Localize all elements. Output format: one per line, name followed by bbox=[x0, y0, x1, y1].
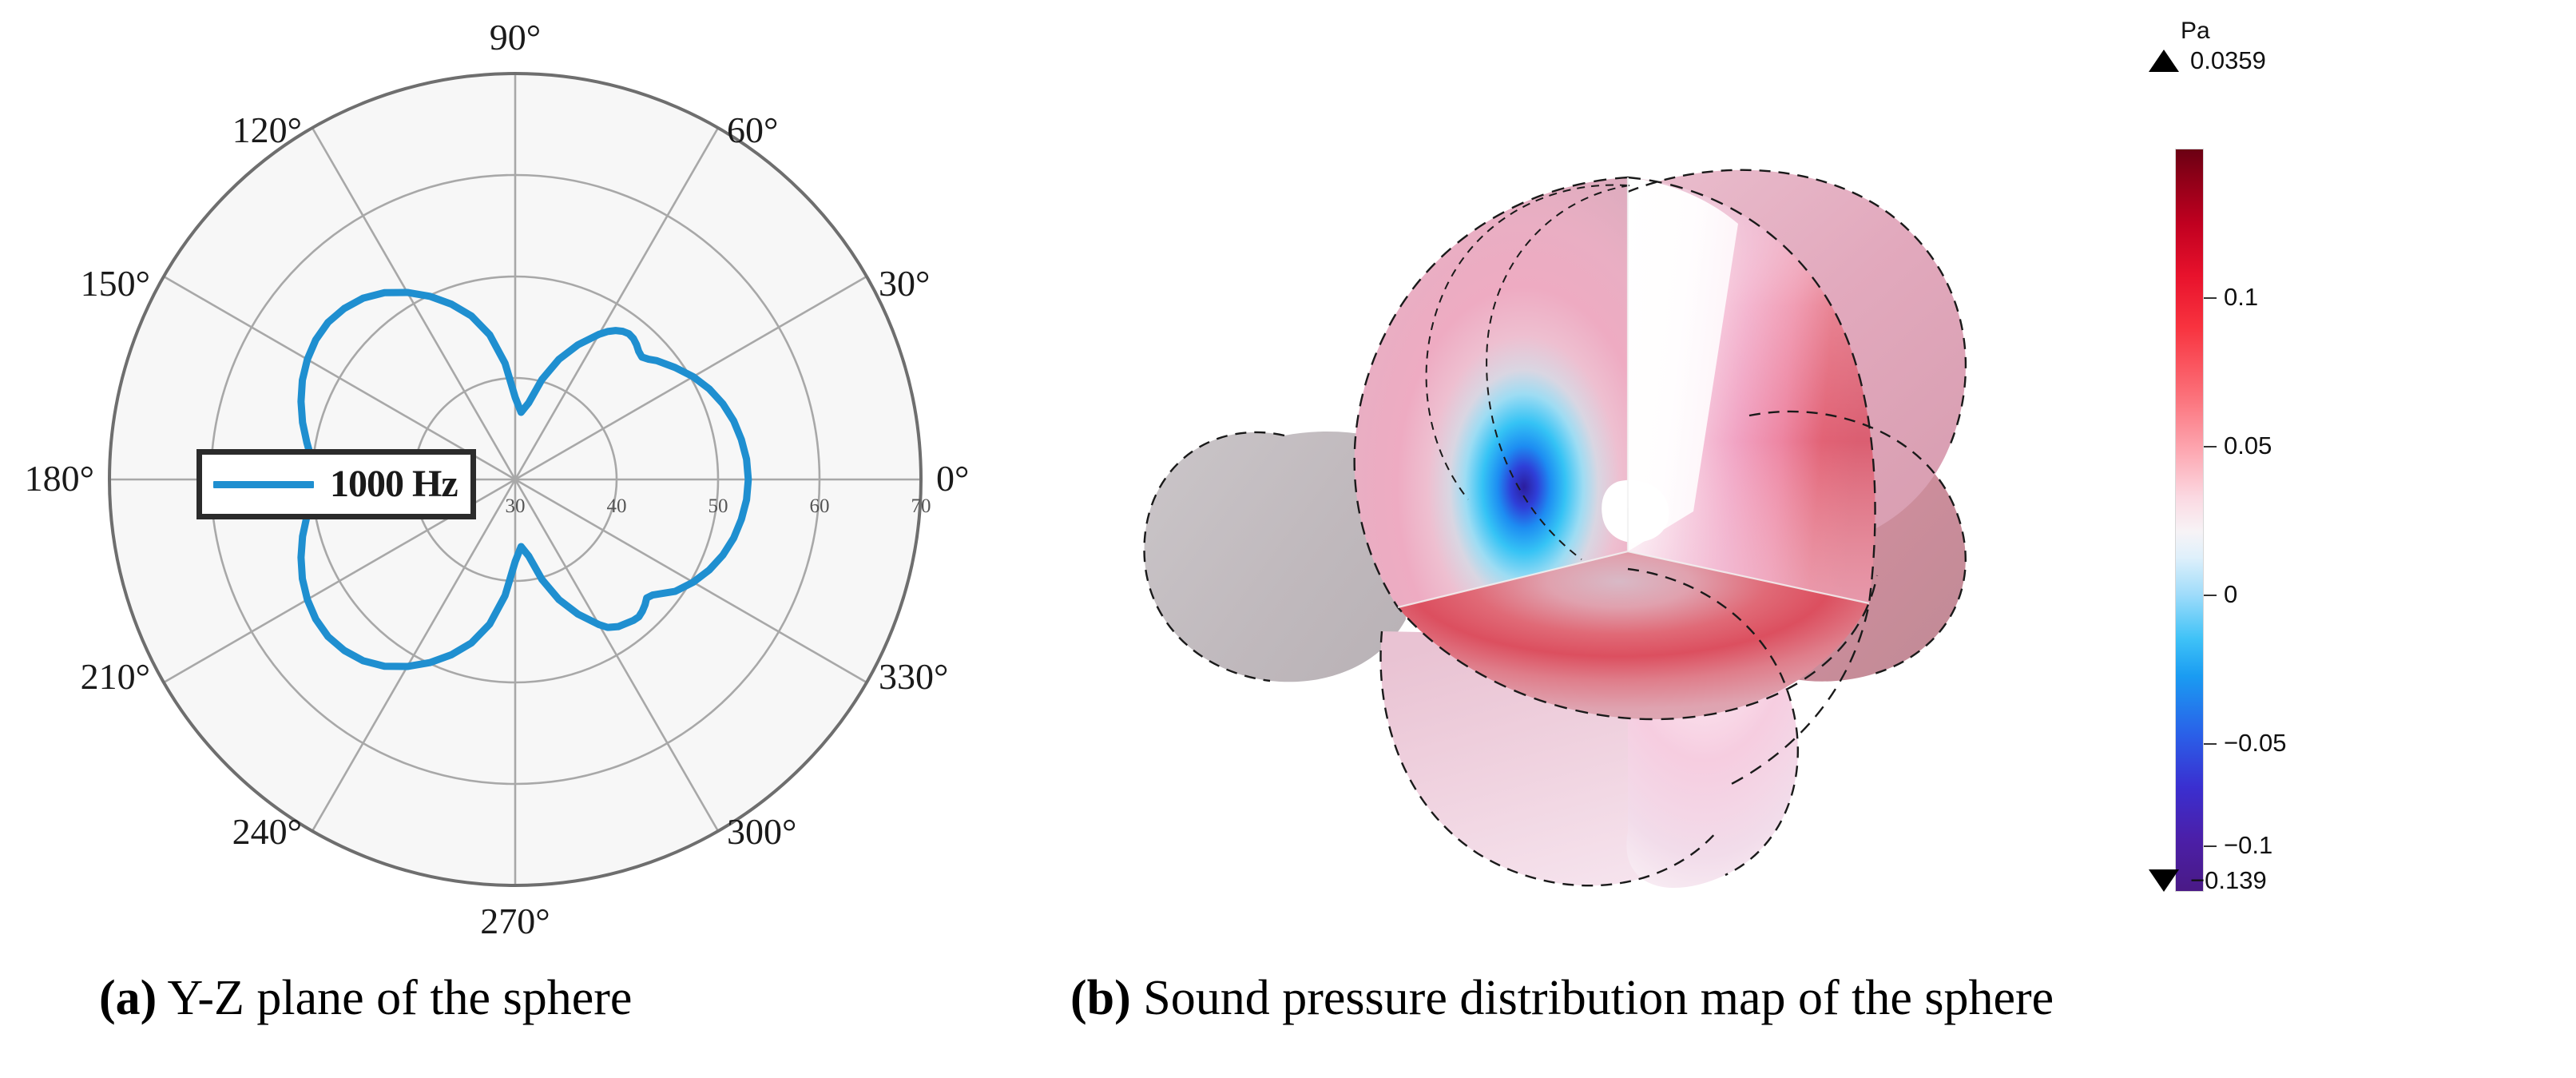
caption-a-tag: (a) bbox=[99, 971, 157, 1025]
angle-label-90: 90° bbox=[490, 17, 541, 58]
colorbar-max-label: 0.0359 bbox=[2190, 46, 2266, 75]
sphere-slice-upper-left bbox=[1355, 177, 1628, 607]
angle-label-180: 180° bbox=[25, 458, 94, 499]
caption-panel-b: (b) Sound pressure distribution map of t… bbox=[1070, 973, 2054, 1023]
polar-legend: 1000 Hz bbox=[196, 449, 476, 519]
radial-label-60: 60 bbox=[810, 495, 830, 517]
colorbar-tick-4 bbox=[2204, 845, 2217, 847]
triangle-down-icon bbox=[2149, 869, 2179, 892]
radial-label-40: 40 bbox=[607, 495, 627, 517]
legend-label-1000hz: 1000 Hz bbox=[330, 465, 458, 503]
angle-label-120: 120° bbox=[232, 109, 302, 150]
colorbar-tick-1 bbox=[2204, 446, 2217, 448]
angle-label-240: 240° bbox=[232, 811, 302, 852]
caption-a-text: Y-Z plane of the sphere bbox=[157, 971, 632, 1025]
caption-b-text: Sound pressure distribution map of the s… bbox=[1131, 971, 2054, 1025]
angle-label-270: 270° bbox=[480, 901, 550, 941]
colorbar-tick-label-neg0p05: −0.05 bbox=[2224, 729, 2286, 758]
angle-label-30: 30° bbox=[879, 263, 930, 304]
panel-b-sphere-plot bbox=[1030, 0, 2141, 959]
colorbar-tick-label-neg0p1: −0.1 bbox=[2224, 831, 2272, 860]
colorbar-tick-label-0: 0 bbox=[2224, 580, 2237, 609]
colorbar-tick-label-0p1: 0.1 bbox=[2224, 283, 2258, 312]
radial-label-30: 30 bbox=[506, 495, 526, 517]
colorbar-unit-label: Pa bbox=[2181, 18, 2210, 45]
triangle-up-icon bbox=[2149, 50, 2179, 72]
angle-label-330: 330° bbox=[879, 656, 948, 697]
angle-label-150: 150° bbox=[81, 263, 150, 304]
colorbar-tick-2 bbox=[2204, 595, 2217, 596]
colorbar-max-row: 0.0359 bbox=[2149, 46, 2266, 75]
polar-chart-svg: 0° 30° 60° 90° 120° 150° 180° 210° 240° … bbox=[0, 0, 1030, 959]
legend-color-swatch-1000hz bbox=[213, 481, 314, 488]
caption-panel-a: (a) Y-Z plane of the sphere bbox=[99, 973, 632, 1023]
angle-label-210: 210° bbox=[81, 656, 150, 697]
radial-label-50: 50 bbox=[708, 495, 728, 517]
colorbar-tick-label-0p05: 0.05 bbox=[2224, 432, 2272, 460]
sphere-3d-svg bbox=[1030, 0, 2141, 959]
panel-a-polar-plot: 0° 30° 60° 90° 120° 150° 180° 210° 240° … bbox=[0, 0, 1030, 959]
angle-label-0: 0° bbox=[936, 458, 969, 499]
colorbar-min-label: −0.139 bbox=[2190, 866, 2267, 895]
radial-label-70: 70 bbox=[911, 495, 931, 517]
angle-label-60: 60° bbox=[727, 109, 778, 150]
caption-b-tag: (b) bbox=[1070, 971, 1131, 1025]
colorbar-min-row: −0.139 bbox=[2149, 866, 2267, 895]
colorbar-gradient-bar bbox=[2175, 149, 2204, 892]
sphere-geometry bbox=[1145, 170, 1966, 888]
colorbar-tick-3 bbox=[2204, 743, 2217, 745]
colorbar-tick-0 bbox=[2204, 297, 2217, 299]
colorbar: Pa 0.0359 0.1 0.05 0 −0.05 −0.1 −0.139 bbox=[2141, 0, 2484, 959]
figure-root: 0° 30° 60° 90° 120° 150° 180° 210° 240° … bbox=[0, 0, 2576, 1078]
angle-label-300: 300° bbox=[727, 811, 796, 852]
